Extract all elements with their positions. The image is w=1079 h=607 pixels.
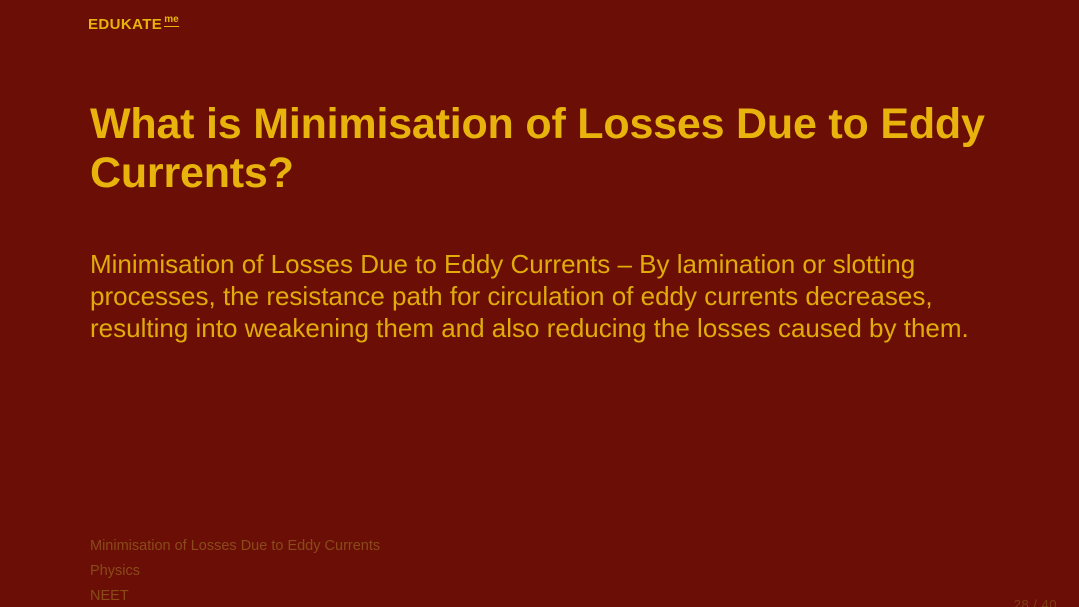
slide-footer: Minimisation of Losses Due to Eddy Curre…: [90, 534, 380, 607]
footer-topic: Minimisation of Losses Due to Eddy Curre…: [90, 534, 380, 559]
slide-canvas: EDUKATE me What is Minimisation of Losse…: [0, 0, 1079, 607]
brand-name: EDUKATE: [88, 17, 162, 32]
footer-subject: Physics: [90, 559, 380, 584]
footer-exam: NEET: [90, 584, 380, 607]
slide-counter: 28 / 40: [1014, 598, 1057, 607]
brand-logo[interactable]: EDUKATE me: [88, 17, 179, 32]
slide-body-text: Minimisation of Losses Due to Eddy Curre…: [90, 248, 995, 344]
slide-title: What is Minimisation of Losses Due to Ed…: [90, 100, 990, 198]
brand-suffix: me: [164, 15, 178, 27]
